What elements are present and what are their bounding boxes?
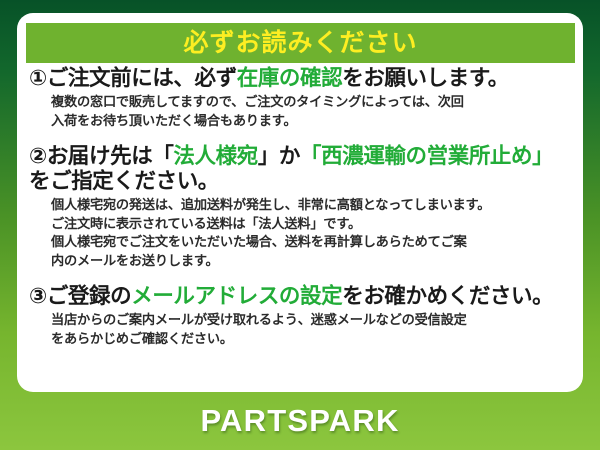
notice-2-body-line-1: 個人様宅宛の発送は、追加送料が発生し、非常に高額となってしまいます。 [51,196,573,215]
notice-1-heading-highlight: 在庫の確認 [237,66,343,90]
notice-1-body-line-1: 複数の窓口で販売してますので、ご注文のタイミングによっては、次回 [51,93,573,112]
notice-2-body-line-3: 個人様宅宛でご注文をいただいた場合、送料を再計算しあらためてご案 [51,233,573,252]
notice-1-heading-part-3: をお願いします。 [342,66,509,90]
footer-area: PARTSPARK [0,392,600,450]
notice-2-body-line-2: ご注文時に表示されている送料は「法人送料」です。 [51,215,573,234]
notice-3-marker: ③ [29,284,47,308]
page-title: 必ずお読みください [183,31,417,56]
brand-logo: PARTSPARK [200,403,399,439]
notice-3-body-line-1: 当店からのご案内メールが受け取れるよう、迷惑メールなどの受信設定 [51,311,573,330]
notice-card: 必ずお読みください ①ご注文前には、必ず在庫の確認をお願いします。 複数の窓口で… [17,13,583,392]
notice-2-marker: ② [29,144,47,168]
notice-2-body-line-4: 内のメールをお送りします。 [51,252,573,271]
notice-1-body: 複数の窓口で販売してますので、ご注文のタイミングによっては、次回 入荷をお待ち頂… [51,93,573,130]
notice-2-heading: ②お届け先は「法人様宛」か「西濃運輸の営業所止め」をご指定ください。 [29,144,573,194]
notice-2-heading-part-3: 」か [258,144,300,168]
header-ribbon: 必ずお読みください [26,23,575,63]
notice-3-body-line-2: をあらかじめご確認ください。 [51,330,573,349]
notice-3-body: 当店からのご案内メールが受け取れるよう、迷惑メールなどの受信設定 をあらかじめご… [51,311,573,348]
notice-3-heading: ③ご登録のメールアドレスの設定をお確かめください。 [29,284,573,309]
notice-2-heading-part-5: をご指定ください。 [29,169,219,193]
notice-2-heading-part-1: お届け先は「 [47,144,174,168]
notice-item-2: ②お届け先は「法人様宛」か「西濃運輸の営業所止め」をご指定ください。 個人様宅宛… [17,144,583,271]
notice-1-marker: ① [29,66,47,90]
notice-1-heading-part-1: ご注文前には、必ず [47,66,237,90]
notice-item-3: ③ご登録のメールアドレスの設定をお確かめください。 当店からのご案内メールが受け… [17,284,583,349]
notice-2-heading-highlight-2: 「西濃運輸の営業所止め」 [300,144,553,168]
notice-2-heading-highlight-1: 法人様宛 [173,144,257,168]
notice-3-heading-part-3: をお確かめください。 [342,284,553,308]
notice-3-heading-highlight: メールアドレスの設定 [131,284,342,308]
notice-3-heading-part-1: ご登録の [47,284,131,308]
notice-list: ①ご注文前には、必ず在庫の確認をお願いします。 複数の窓口で販売してますので、ご… [17,65,583,348]
notice-1-heading: ①ご注文前には、必ず在庫の確認をお願いします。 [29,66,573,91]
notice-2-body: 個人様宅宛の発送は、追加送料が発生し、非常に高額となってしまいます。 ご注文時に… [51,196,573,271]
notice-item-1: ①ご注文前には、必ず在庫の確認をお願いします。 複数の窓口で販売してますので、ご… [17,66,583,131]
notice-1-body-line-2: 入荷をお待ち頂いただく場合もあります。 [51,112,573,131]
notice-banner: 必ずお読みください ①ご注文前には、必ず在庫の確認をお願いします。 複数の窓口で… [0,0,600,450]
